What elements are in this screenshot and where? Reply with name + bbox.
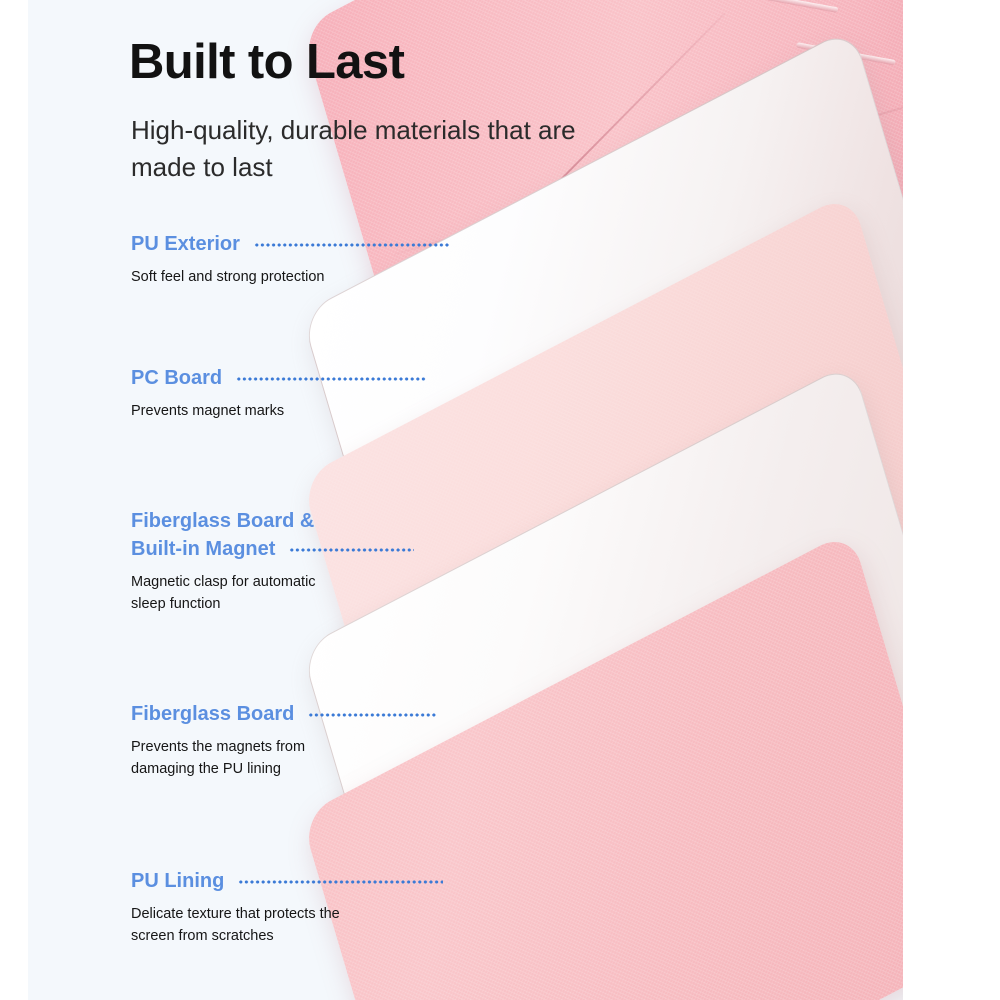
callout-title: Fiberglass Board <box>131 703 294 726</box>
callout-description: Prevents the magnets from damaging the P… <box>131 737 346 781</box>
content-panel: Built to Last High-quality, durable mate… <box>28 0 903 1000</box>
callout-description: Magnetic clasp for automatic sleep funct… <box>131 572 351 616</box>
callout-description: Soft feel and strong protection <box>131 267 449 289</box>
callout-pu-lining: PU Lining Delicate texture that protects… <box>131 870 443 948</box>
leader-line <box>308 713 436 717</box>
callout-description: Prevents magnet marks <box>131 401 426 423</box>
leader-line <box>289 548 414 552</box>
callout-title: PC Board <box>131 367 222 390</box>
callout-description: Delicate texture that protects the scree… <box>131 904 346 948</box>
callout-title: PU Lining <box>131 870 224 893</box>
leader-line <box>236 377 426 381</box>
callout-pc-board: PC Board Prevents magnet marks <box>131 367 426 423</box>
callout-title: PU Exterior <box>131 233 240 256</box>
page-title: Built to Last <box>129 34 404 90</box>
leader-line <box>238 880 443 884</box>
page-subtitle: High-quality, durable materials that are… <box>131 112 601 186</box>
callout-fiberglass-board: Fiberglass Board Prevents the magnets fr… <box>131 703 436 781</box>
callout-fiberglass-magnet: Fiberglass Board & Built-in Magnet Magne… <box>131 510 414 616</box>
infographic-canvas: Built to Last High-quality, durable mate… <box>0 0 1000 1000</box>
callout-title-line2: Built-in Magnet <box>131 538 275 561</box>
callout-title: Fiberglass Board & <box>131 510 314 533</box>
callout-pu-exterior: PU Exterior Soft feel and strong protect… <box>131 233 449 289</box>
leader-line <box>254 243 449 247</box>
